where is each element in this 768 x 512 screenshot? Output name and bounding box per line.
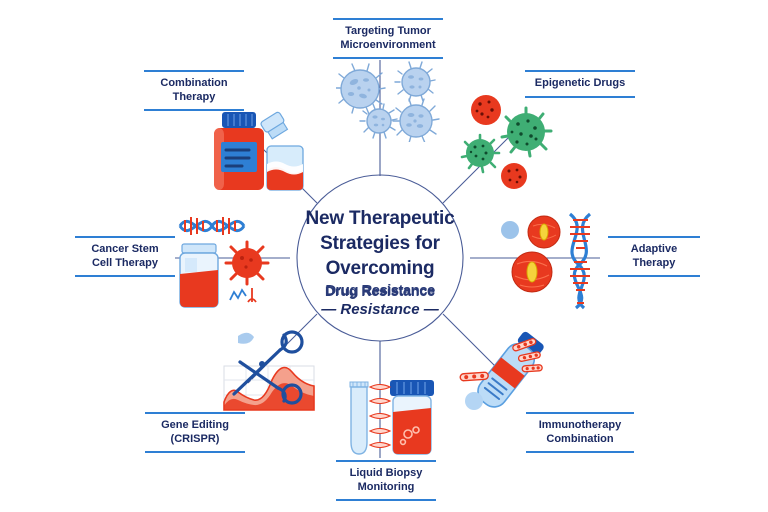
dna-strand [180, 217, 244, 235]
light-blue-dot [465, 392, 483, 410]
green-red-virus-cells-icon [456, 86, 562, 196]
node-label-immunotherapy-combination[interactable]: Immunotherapy Combination [526, 412, 634, 453]
node-label-targeting-tumor-microenvironment[interactable]: Targeting Tumor Microenvironment [333, 18, 443, 59]
mini-chart [230, 288, 256, 302]
sample-jar [390, 380, 434, 454]
center-title-line-1: New Therapeutic [284, 206, 476, 231]
node-label-epigenetic-drugs[interactable]: Epigenetic Drugs [525, 70, 635, 98]
center-subtitle-italic: — Resistance — [284, 301, 476, 318]
center-title-line-3: Overcoming [284, 256, 476, 281]
blood-collection-tube-icon [456, 322, 564, 422]
light-blue-dot [501, 221, 519, 239]
pill-bottle [214, 112, 264, 190]
red-cells-dna-helix-icon [498, 212, 602, 310]
node-label-liquid-biopsy-monitoring[interactable]: Liquid Biopsy Monitoring [336, 460, 436, 501]
infographic-canvas: New Therapeutic Strategies for Overcomin… [0, 0, 768, 512]
node-label-combination-therapy[interactable]: Combination Therapy [144, 70, 244, 111]
scissors-chart-icon [216, 322, 324, 418]
test-tube-sample-jar-icon [338, 368, 444, 464]
center-subtitle-overlap-b: Drug Resistance [287, 283, 473, 299]
center-title-line-2: Strategies for [284, 231, 476, 256]
sample-jar [180, 244, 218, 307]
pill-bottle-vial-icon [204, 106, 314, 200]
transfer-droplets [370, 385, 390, 448]
vial-body [267, 146, 303, 190]
vial [260, 111, 289, 140]
node-label-cancer-stem-cell-therapy[interactable]: Cancer Stem Cell Therapy [75, 236, 175, 277]
node-label-gene-editing-crispr[interactable]: Gene Editing (CRISPR) [145, 412, 245, 453]
blue-blob [238, 333, 254, 344]
node-label-adaptive-therapy[interactable]: Adaptive Therapy [608, 236, 700, 277]
dna-jar-tumor-cell-icon [172, 206, 284, 312]
bacteria-left [460, 372, 488, 381]
test-tube [350, 382, 368, 454]
center-title-block: New Therapeutic Strategies for Overcomin… [284, 206, 476, 322]
tumor-cell [226, 242, 268, 284]
spiky-blue-cells-icon [336, 56, 448, 142]
dna-helix [570, 214, 590, 308]
